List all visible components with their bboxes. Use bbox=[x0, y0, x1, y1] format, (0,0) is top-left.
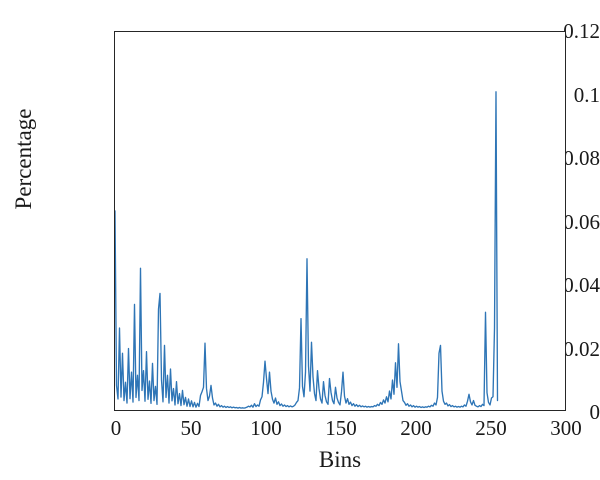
x-tick-label-4: 200 bbox=[376, 418, 456, 439]
x-tick-label-0: 0 bbox=[76, 418, 156, 439]
chart-figure: Percentage 0 0.02 0.04 0.06 0.08 0.1 0.1… bbox=[0, 0, 600, 480]
x-tick-label-3: 150 bbox=[301, 418, 381, 439]
x-axis-title: Bins bbox=[114, 447, 566, 473]
x-tick-label-5: 250 bbox=[451, 418, 531, 439]
y-axis-title: Percentage bbox=[11, 59, 37, 259]
plot-area bbox=[114, 31, 566, 411]
data-line-series bbox=[115, 32, 565, 410]
x-tick-label-1: 50 bbox=[151, 418, 231, 439]
x-tick-label-6: 300 bbox=[526, 418, 600, 439]
x-tick-label-2: 100 bbox=[226, 418, 306, 439]
